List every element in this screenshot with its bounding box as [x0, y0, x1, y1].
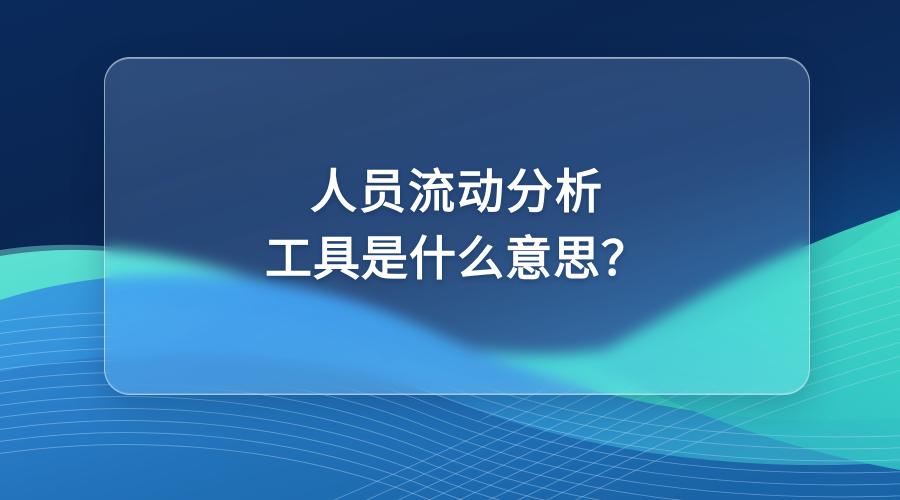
glass-panel: 人员流动分析 工具是什么意思？	[104, 57, 810, 395]
poster-canvas: 人员流动分析 工具是什么意思？	[0, 0, 900, 500]
headline-line-1: 人员流动分析	[265, 159, 649, 226]
page-title: 人员流动分析 工具是什么意思？	[265, 159, 649, 292]
headline-line-2: 工具是什么意思？	[265, 226, 649, 293]
